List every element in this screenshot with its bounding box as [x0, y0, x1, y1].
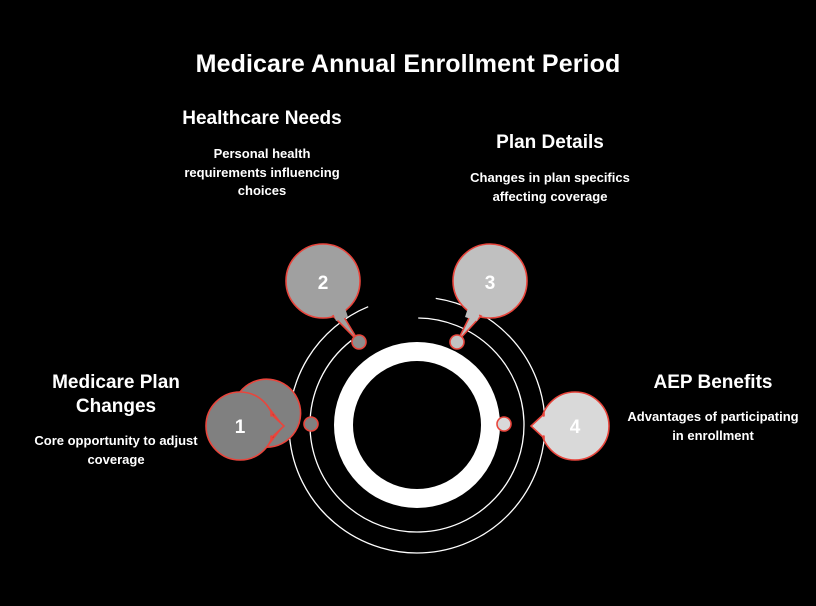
label-heading-plan-details: Plan Details — [462, 131, 638, 155]
callout-bubble-2[interactable]: 2 — [286, 244, 360, 342]
label-description-medicare-plan-changes: Core opportunity to adjust coverage — [27, 432, 205, 469]
label-description-plan-details: Changes in plan specifics affecting cove… — [462, 169, 638, 206]
bubble-4-number: 4 — [570, 417, 581, 438]
label-block-healthcare-needs: Healthcare Needs Personal health require… — [176, 107, 348, 200]
enrollment-ring-diagram: 1 2 3 4 — [0, 0, 816, 606]
bubble-1-number: 1 — [235, 417, 246, 438]
label-description-aep-benefits: Advantages of participating in enrollmen… — [621, 408, 805, 445]
label-block-medicare-plan-changes: Medicare Plan Changes Core opportunity t… — [27, 371, 205, 469]
label-heading-medicare-plan-changes: Medicare Plan Changes — [27, 371, 205, 419]
bubble-3-number: 3 — [485, 273, 496, 294]
node-dot-4[interactable] — [497, 417, 511, 431]
node-dot-2[interactable] — [352, 335, 366, 349]
node-dot-1[interactable] — [304, 417, 318, 431]
bubble-2-number: 2 — [318, 273, 329, 294]
bubble-4-tail-join — [541, 414, 550, 438]
outer-thin-arc — [278, 286, 555, 563]
center-ring — [344, 352, 491, 499]
callout-bubble-3[interactable]: 3 — [453, 244, 527, 342]
label-block-aep-benefits: AEP Benefits Advantages of participating… — [621, 371, 805, 445]
label-block-plan-details: Plan Details Changes in plan specifics a… — [462, 131, 638, 206]
bubble-1-tail-join — [265, 414, 274, 438]
label-heading-aep-benefits: AEP Benefits — [621, 371, 805, 395]
node-dot-3[interactable] — [450, 335, 464, 349]
label-heading-healthcare-needs: Healthcare Needs — [176, 107, 348, 131]
label-description-healthcare-needs: Personal health requirements influencing… — [176, 145, 348, 200]
callout-bubble-1[interactable]: 1 — [206, 379, 301, 460]
slide-canvas: Medicare Annual Enrollment Period 1 2 — [0, 0, 816, 606]
